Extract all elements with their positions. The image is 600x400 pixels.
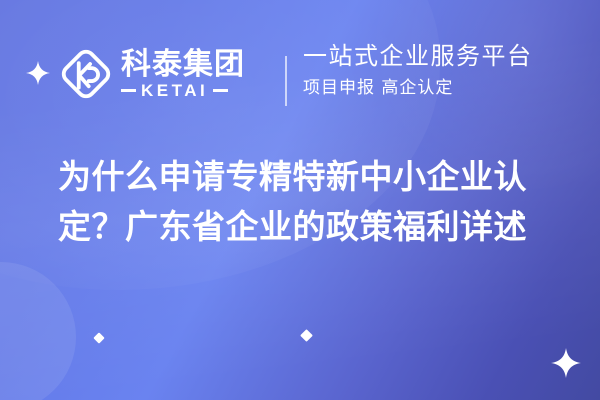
diamond-small-b-icon [300,329,313,342]
tagline-sub: 项目申报 高企认定 [303,76,583,100]
header-divider [285,56,287,106]
sparkle-star-bottom-right-icon [551,348,581,378]
diamond-small-a-icon [93,332,104,343]
page-title: 为什么申请专精特新中小企业认定？广东省企业的政策福利详述 [58,152,558,252]
background-circle-left [0,262,76,400]
ketai-diamond-kp-monogram-icon [57,45,115,103]
tagline-main: 一站式企业服务平台 [303,40,583,72]
brand-logo[interactable]: 科泰集团 KETAI [57,38,245,110]
wordmark-dash-right [213,89,228,92]
brand-wordmark: 科泰集团 KETAI [121,49,245,100]
page-title-line2: ？广东省企业的政策福利详述 [92,207,528,246]
brand-name-cn: 科泰集团 [121,49,245,81]
brand-name-en: KETAI [141,82,208,99]
sparkle-star-left-icon [26,61,50,85]
tagline-block: 一站式企业服务平台 项目申报 高企认定 [303,40,583,100]
brand-name-en-row: KETAI [121,82,245,99]
promo-banner: 科泰集团 KETAI 一站式企业服务平台 项目申报 高企认定 为什么申请专精特新… [0,0,600,400]
wordmark-dash-left [121,89,136,92]
